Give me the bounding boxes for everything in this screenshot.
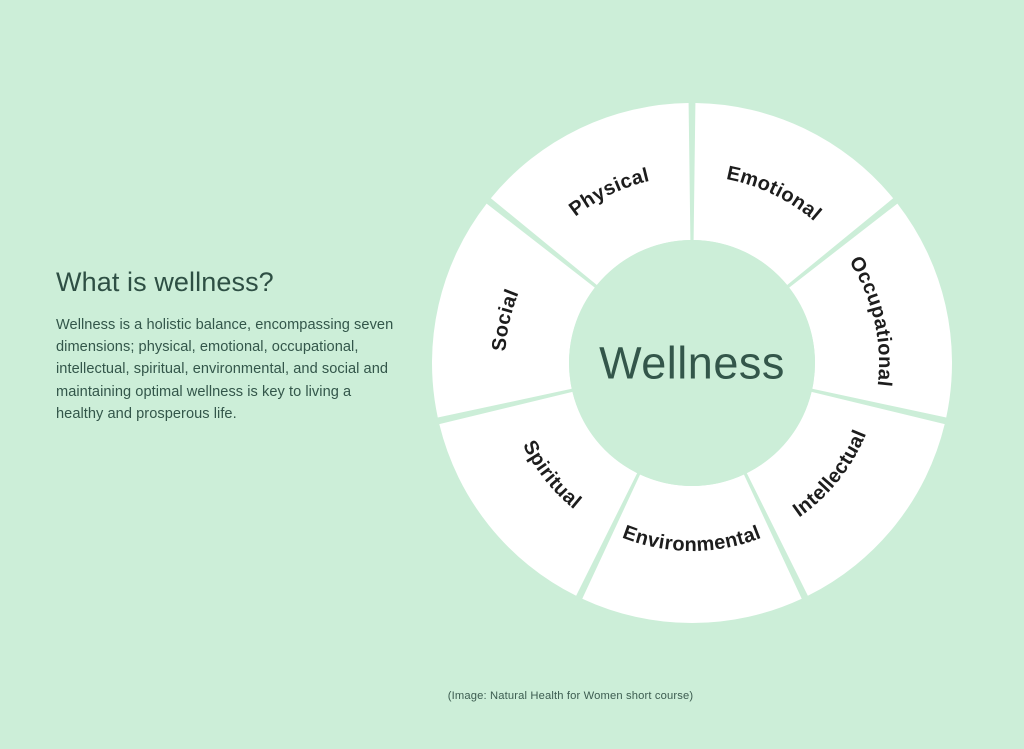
image-caption-text: (Image: Natural Health for Women short c… [448,690,693,702]
body-paragraph: Wellness is a holistic balance, encompas… [56,314,396,426]
page-title: What is wellness? [56,268,396,298]
wellness-wheel-svg: Wellness EmotionalOccupationalIntellectu… [432,103,952,623]
wheel-center-label: Wellness [599,338,785,389]
wellness-wheel: Wellness EmotionalOccupationalIntellectu… [432,103,952,623]
slide-canvas: What is wellness? Wellness is a holistic… [0,0,1024,749]
text-panel: What is wellness? Wellness is a holistic… [56,268,396,425]
image-caption: (Image: Natural Health for Women short c… [0,690,1024,702]
